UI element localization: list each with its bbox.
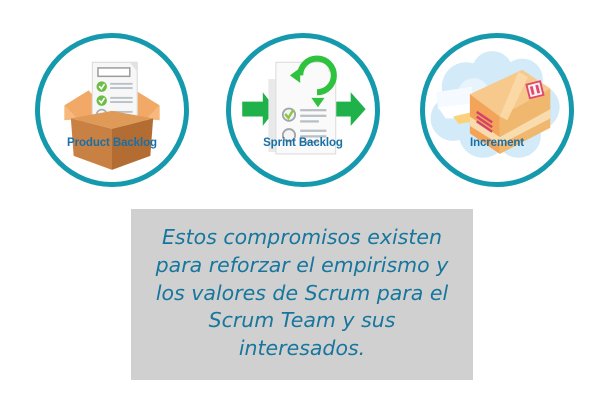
delivered-package-in-clouds-icon: [425, 38, 569, 182]
artifact-label: Increment: [425, 137, 569, 149]
artifact-label: Product Backlog: [40, 137, 184, 149]
artifact-badge-sprint-backlog[interactable]: Sprint Backlog: [226, 33, 380, 187]
artifact-badge-product-backlog[interactable]: Product Backlog: [35, 33, 189, 187]
document-with-sprint-cycle-and-arrows-icon: [231, 38, 375, 182]
artifact-badge-increment[interactable]: Increment: [420, 33, 574, 187]
artifact-label: Sprint Backlog: [231, 137, 375, 149]
statement-panel: Estos compromisos existen para reforzar …: [131, 209, 473, 380]
open-box-with-checklist-icon: [40, 38, 184, 182]
statement-text: Estos compromisos existen para reforzar …: [145, 224, 459, 363]
